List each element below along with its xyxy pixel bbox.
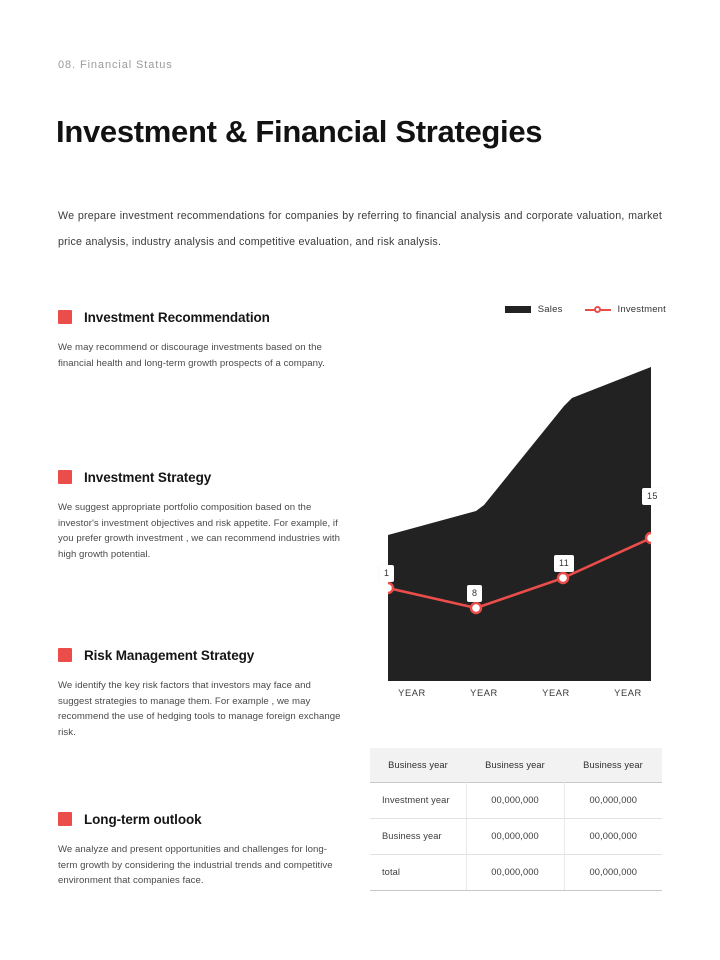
page-title: Investment & Financial Strategies (56, 114, 542, 150)
section-body: We suggest appropriate portfolio composi… (58, 500, 345, 562)
section-title: Investment Strategy (84, 470, 211, 485)
chart-x-axis: YEAR YEAR YEAR YEAR (376, 688, 664, 698)
square-bullet-icon (58, 812, 72, 826)
section-title: Investment Recommendation (84, 310, 270, 325)
table-header-row: Business year Business year Business yea… (370, 748, 662, 783)
table-header-cell: Business year (466, 748, 564, 783)
section-risk-management-strategy: Risk Management Strategy We identify the… (58, 646, 350, 740)
chart-legend: Sales Investment (505, 304, 666, 315)
square-bullet-icon (58, 648, 72, 662)
data-point-marker (646, 533, 651, 543)
square-bullet-icon (58, 310, 72, 324)
legend-item-sales: Sales (505, 304, 563, 315)
section-header: Long-term outlook (58, 810, 350, 828)
square-bullet-icon (58, 470, 72, 484)
table-row: Investment year 00,000,000 00,000,000 (370, 783, 662, 819)
table-cell-value: 00,000,000 (466, 819, 564, 855)
x-tick-label: YEAR (448, 688, 520, 698)
x-tick-label: YEAR (376, 688, 448, 698)
legend-item-investment: Investment (585, 304, 666, 315)
table-header-cell: Business year (564, 748, 662, 783)
section-header: Investment Strategy (58, 468, 350, 486)
table-row: Business year 00,000,000 00,000,000 (370, 819, 662, 855)
table-row: total 00,000,000 00,000,000 (370, 855, 662, 891)
table-cell-label: Business year (370, 819, 466, 855)
section-body: We analyze and present opportunities and… (58, 842, 345, 889)
line-marker-swatch-icon (585, 305, 611, 314)
data-label: 11 (554, 555, 574, 572)
section-title: Long-term outlook (84, 812, 202, 827)
table-cell-value: 00,000,000 (466, 783, 564, 819)
section-header: Risk Management Strategy (58, 646, 350, 664)
chart-plot-area: 1 8 11 15 (388, 340, 651, 681)
table-cell-value: 00,000,000 (564, 819, 662, 855)
x-tick-label: YEAR (592, 688, 664, 698)
chart: Sales Investment 1 8 11 15 (368, 296, 668, 716)
financial-table: Business year Business year Business yea… (370, 748, 662, 891)
section-body: We may recommend or discourage investmen… (58, 340, 345, 371)
table-cell-value: 00,000,000 (564, 783, 662, 819)
section-long-term-outlook: Long-term outlook We analyze and present… (58, 810, 350, 889)
data-point-marker (558, 573, 568, 583)
area-swatch-icon (505, 306, 531, 313)
table-cell-label: Investment year (370, 783, 466, 819)
section-investment-strategy: Investment Strategy We suggest appropria… (58, 468, 350, 562)
data-label: 8 (467, 585, 482, 602)
table-header-cell: Business year (370, 748, 466, 783)
data-point-marker (471, 603, 481, 613)
section-title: Risk Management Strategy (84, 648, 254, 663)
data-label: 1 (379, 565, 394, 582)
section-investment-recommendation: Investment Recommendation We may recomme… (58, 308, 350, 371)
intro-paragraph: We prepare investment recommendations fo… (58, 203, 662, 255)
legend-label-investment: Investment (618, 304, 666, 315)
data-label: 15 (642, 488, 663, 505)
legend-label-sales: Sales (538, 304, 563, 315)
section-header: Investment Recommendation (58, 308, 350, 326)
chart-svg (388, 340, 651, 681)
table-cell-label: total (370, 855, 466, 891)
slide-page: 08. Financial Status Investment & Financ… (0, 0, 720, 960)
table-cell-value: 00,000,000 (466, 855, 564, 891)
x-tick-label: YEAR (520, 688, 592, 698)
series-sales-area (388, 367, 651, 681)
section-body: We identify the key risk factors that in… (58, 678, 345, 740)
section-eyebrow: 08. Financial Status (58, 59, 173, 71)
table-cell-value: 00,000,000 (564, 855, 662, 891)
data-point-marker (388, 583, 393, 593)
financial-table-wrapper: Business year Business year Business yea… (370, 748, 662, 891)
